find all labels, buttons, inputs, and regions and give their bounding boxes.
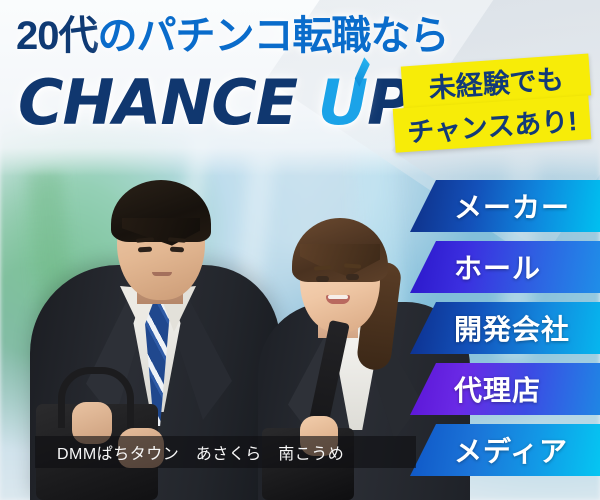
tag-maker[interactable]: メーカー <box>410 180 600 232</box>
man-mouth <box>152 272 172 276</box>
man-eye-left <box>138 247 152 253</box>
headline-prefix: 20代 <box>16 14 98 58</box>
experience-badge: 未経験でも チャンスあり! <box>392 56 598 156</box>
woman-teeth <box>328 295 348 299</box>
recruitment-banner: 20代のパチンコ転職なら CHANCE UP 未経験でも チャンスあり! メーカ… <box>0 0 600 500</box>
caption-bar: DMMぱちタウン あさくら 南こうめ <box>35 436 416 468</box>
tag-development-company-label: 開発会社 <box>454 308 570 348</box>
logo-chance-text: CHANCE <box>18 66 318 139</box>
tag-media-label: メディア <box>454 430 568 470</box>
caption-text: DMMぱちタウン あさくら 南こうめ <box>35 440 344 464</box>
chance-up-logo: CHANCE UP <box>18 72 412 134</box>
tag-development-company[interactable]: 開発会社 <box>410 302 600 354</box>
tag-hall[interactable]: ホール <box>410 241 600 293</box>
job-category-list: メーカー ホール 開発会社 代理店 メディア <box>410 180 600 485</box>
headline-rest: のパチンコ転職なら <box>98 14 449 58</box>
woman-eye-left <box>316 276 329 282</box>
tag-media[interactable]: メディア <box>410 424 600 476</box>
woman-eye-right <box>346 274 359 280</box>
man-eye-right <box>170 247 184 253</box>
tag-agency-label: 代理店 <box>454 369 541 409</box>
tag-maker-label: メーカー <box>454 186 570 226</box>
tag-hall-label: ホール <box>454 247 541 287</box>
page-title: 20代のパチンコ転職なら <box>16 16 449 56</box>
tag-agency[interactable]: 代理店 <box>410 363 600 415</box>
logo-u-accent: U <box>318 66 367 139</box>
